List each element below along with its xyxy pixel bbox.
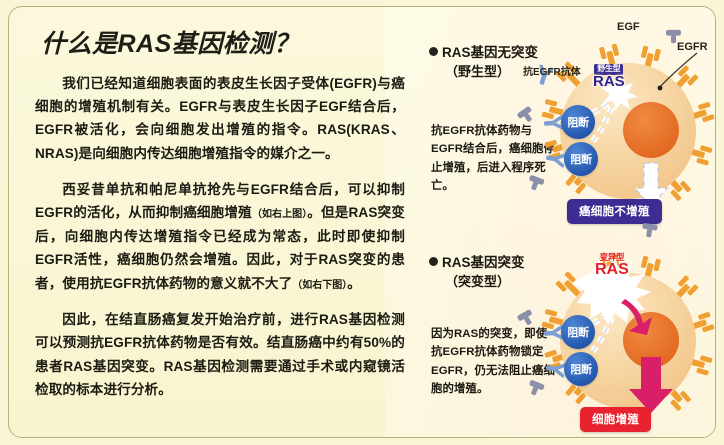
egfr-leader-line	[651, 49, 711, 95]
content-frame: 什么是RAS基因检测？ 我们已经知道细胞表面的表皮生长因子受体(EGFR)与癌细…	[8, 6, 716, 438]
wild-type-result-badge: 癌细胞不增殖	[567, 199, 662, 224]
page-title: 什么是RAS基因检测？	[41, 31, 415, 59]
block-badge: 阻断	[561, 105, 595, 139]
anti-egfr-antibody-icon	[544, 358, 567, 379]
infographic-page: 什么是RAS基因检测？ 我们已经知道细胞表面的表皮生长因子受体(EGFR)与癌细…	[0, 0, 724, 445]
paragraph-3: 因此，在结直肠癌复发开始治疗前，进行RAS基因检测可以预测抗EGFR抗体药物是否…	[35, 308, 405, 402]
mutant-ras-name: RAS	[595, 262, 629, 278]
note-upper-figure: （如右上图）	[252, 209, 307, 220]
antibody-label: 抗EGFR抗体	[523, 63, 581, 78]
mutant-type-result-badge: 细胞增殖	[580, 407, 651, 432]
wild-type-ras-name: RAS	[593, 74, 625, 89]
panel-mutant-type: RAS基因突变 （突变型） 因为RAS的突变，即使抗EGFR抗体药物锁定EGFR…	[415, 231, 716, 438]
mutant-type-heading: RAS基因突变 （突变型）	[429, 253, 525, 291]
wild-type-ras-label: 野生型 RAS	[593, 59, 625, 89]
egf-ligand-icon	[640, 222, 659, 239]
mutant-ras-label: 变异型 RAS	[595, 253, 629, 278]
paragraph-1: 我们已经知道细胞表面的表皮生长因子受体(EGFR)与癌细胞的增殖机制有关。EGF…	[35, 72, 405, 166]
bullet-icon	[429, 257, 438, 266]
note-lower-figure: （如右下图）	[292, 280, 347, 291]
block-badge: 阻断	[561, 315, 595, 349]
block-badge: 阻断	[564, 352, 598, 386]
egf-label: EGF	[617, 21, 640, 33]
bullet-icon	[429, 47, 438, 56]
left-text-column: 什么是RAS基因检测？ 我们已经知道细胞表面的表皮生长因子受体(EGFR)与癌细…	[23, 15, 415, 435]
right-diagram-column: RAS基因无突变 （野生型） 抗EGFR抗体药物与EGFR结合后，癌细胞停止增殖…	[415, 7, 716, 438]
paragraph-2: 西妥昔单抗和帕尼单抗抢先与EGFR结合后，可以抑制EGFR的活化，从而抑制癌细胞…	[35, 178, 405, 295]
cell-nucleus	[623, 102, 679, 158]
block-badge: 阻断	[564, 142, 598, 176]
panel-wild-type: RAS基因无突变 （野生型） 抗EGFR抗体药物与EGFR结合后，癌细胞停止增殖…	[415, 13, 716, 227]
anti-egfr-antibody-icon	[544, 148, 567, 169]
